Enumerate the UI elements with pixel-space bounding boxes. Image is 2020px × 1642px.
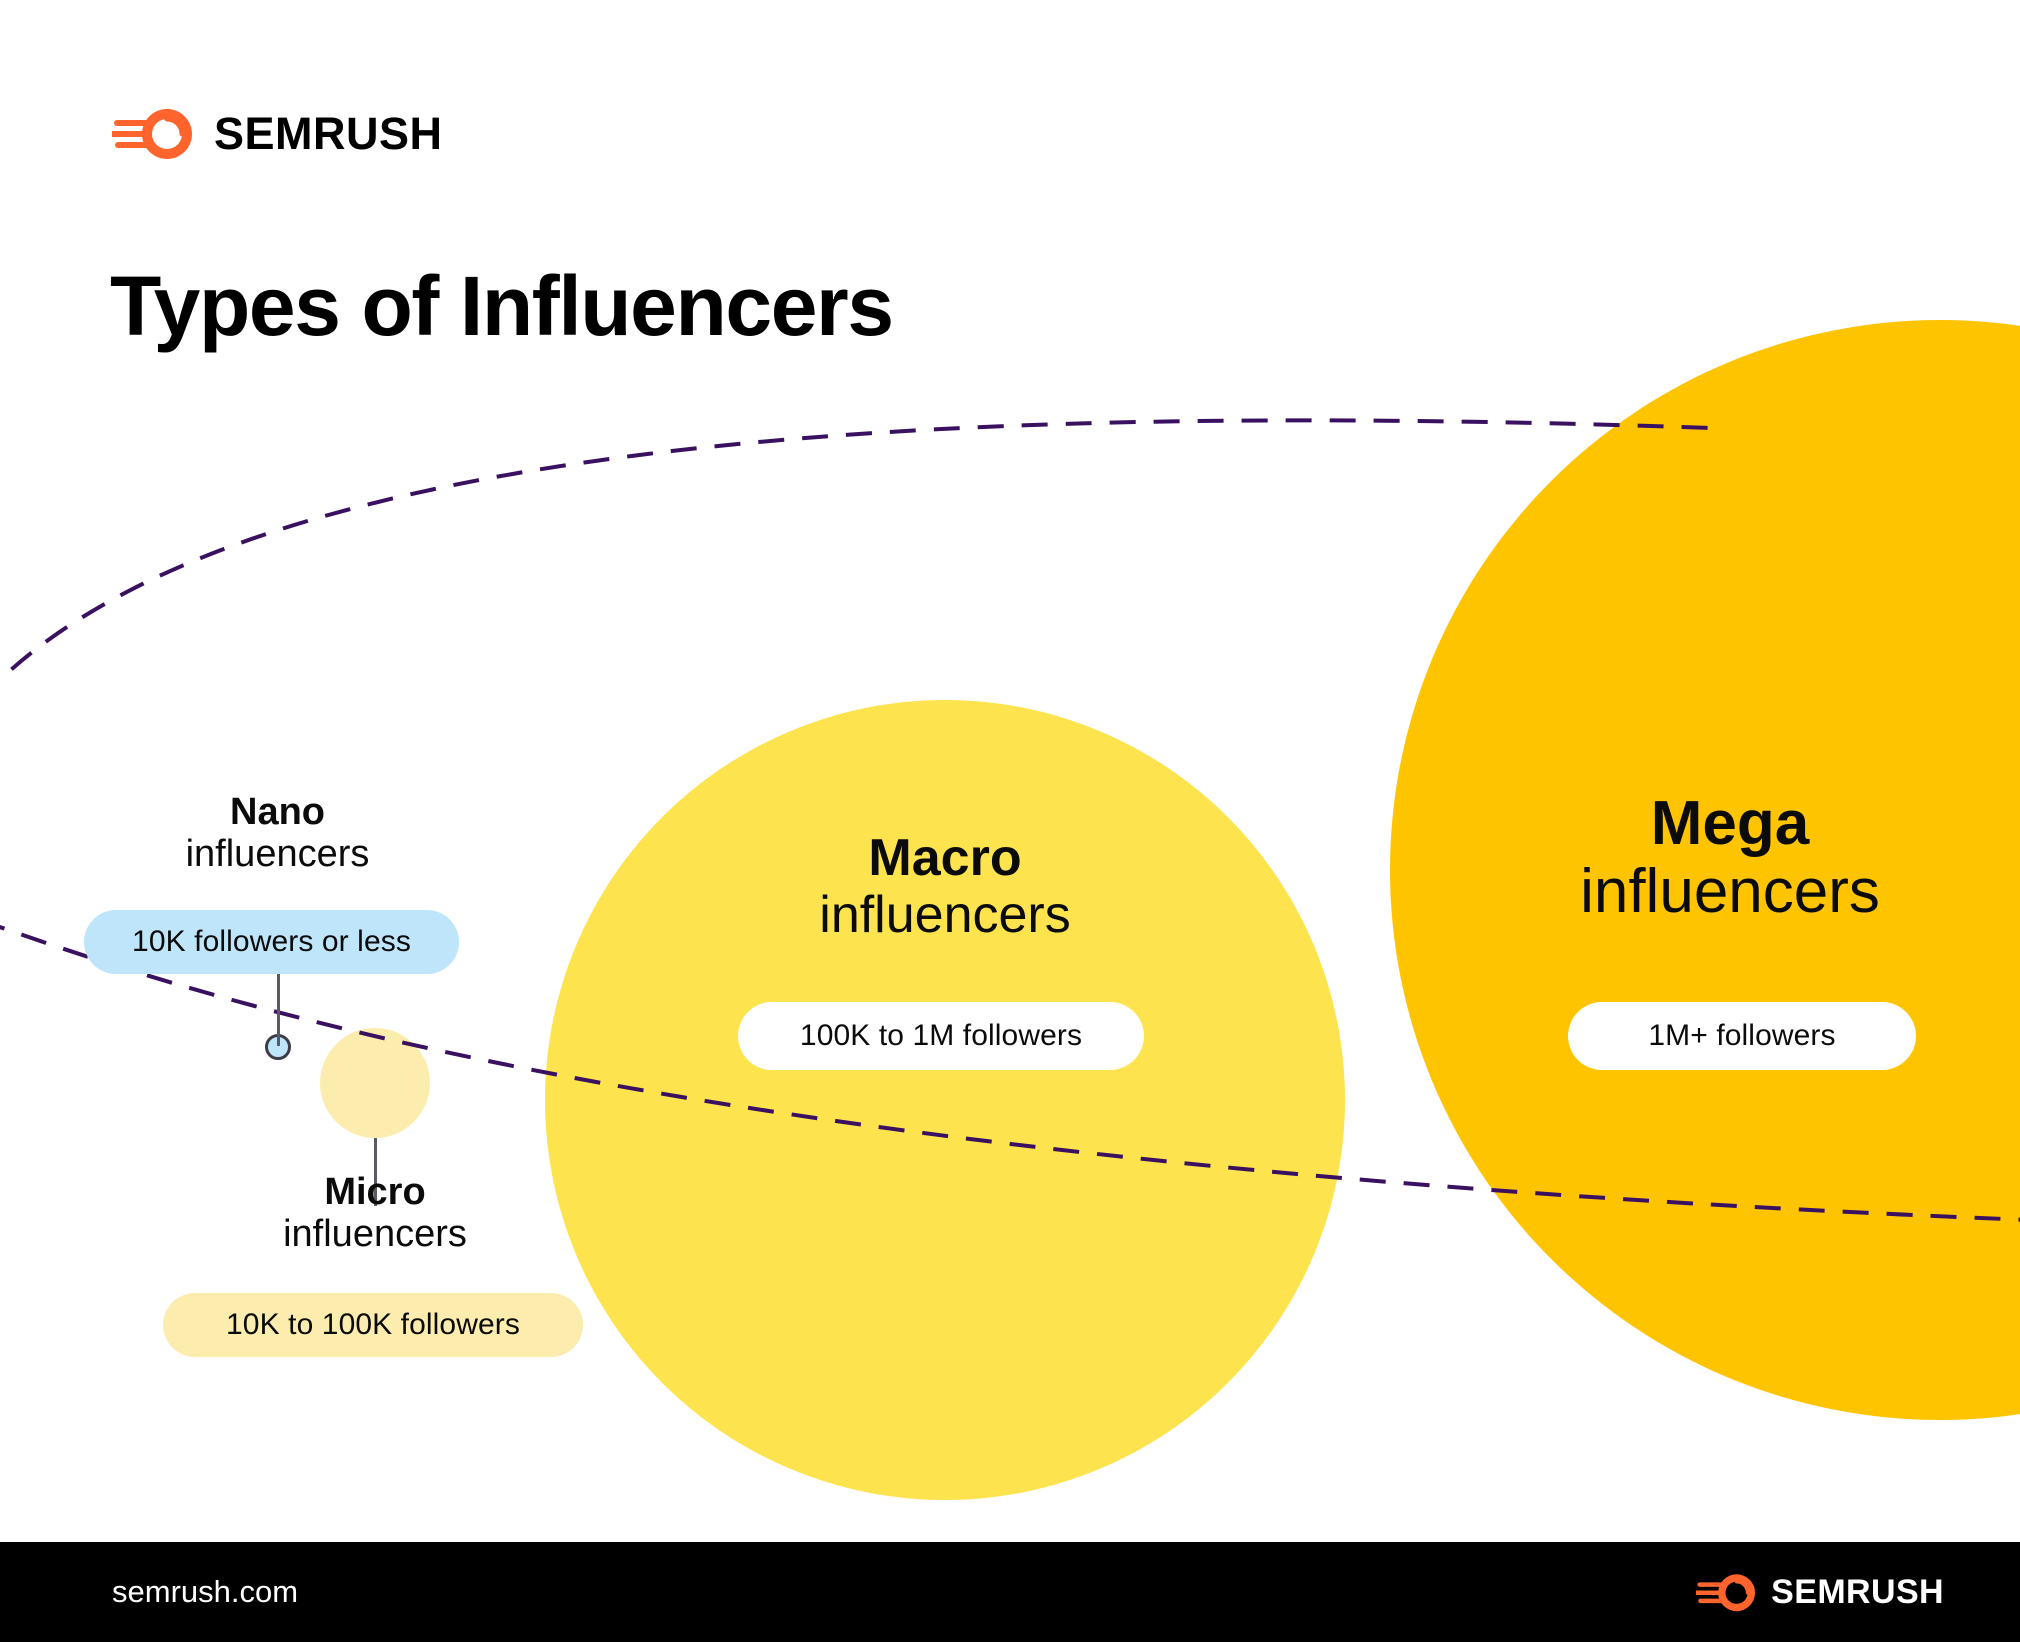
footer-website-url[interactable]: semrush.com [112,1574,298,1610]
pill-macro-followers: 100K to 1M followers [738,1002,1144,1070]
label-macro-line1: Macro [705,830,1185,887]
label-nano-line2: influencers [110,834,445,876]
label-micro: Micro influencers [200,1172,550,1256]
label-micro-line2: influencers [200,1214,550,1256]
pill-nano-followers: 10K followers or less [84,910,459,974]
footer-bar: semrush.com SEMRUSH [0,1542,2020,1642]
label-mega-line2: influencers [1480,858,1980,926]
label-mega-line1: Mega [1480,790,1980,858]
pill-micro-text: 10K to 100K followers [226,1308,520,1342]
infographic-canvas: SEMRUSH Types of Influencers Nano influe… [0,0,2020,1642]
pill-mega-text: 1M+ followers [1648,1019,1835,1053]
pill-mega-followers: 1M+ followers [1568,1002,1916,1070]
pill-nano-text: 10K followers or less [132,925,411,959]
semrush-comet-logo-icon [1696,1572,1758,1612]
pill-micro-followers: 10K to 100K followers [163,1293,583,1357]
footer-brand: SEMRUSH [1696,1572,1944,1612]
label-macro-line2: influencers [705,887,1185,944]
pill-macro-text: 100K to 1M followers [800,1019,1082,1053]
label-macro: Macro influencers [705,830,1185,944]
label-mega: Mega influencers [1480,790,1980,926]
label-nano-line1: Nano [110,792,445,834]
label-micro-line1: Micro [200,1172,550,1214]
footer-brand-wordmark: SEMRUSH [1771,1575,1944,1609]
label-nano: Nano influencers [110,792,445,876]
